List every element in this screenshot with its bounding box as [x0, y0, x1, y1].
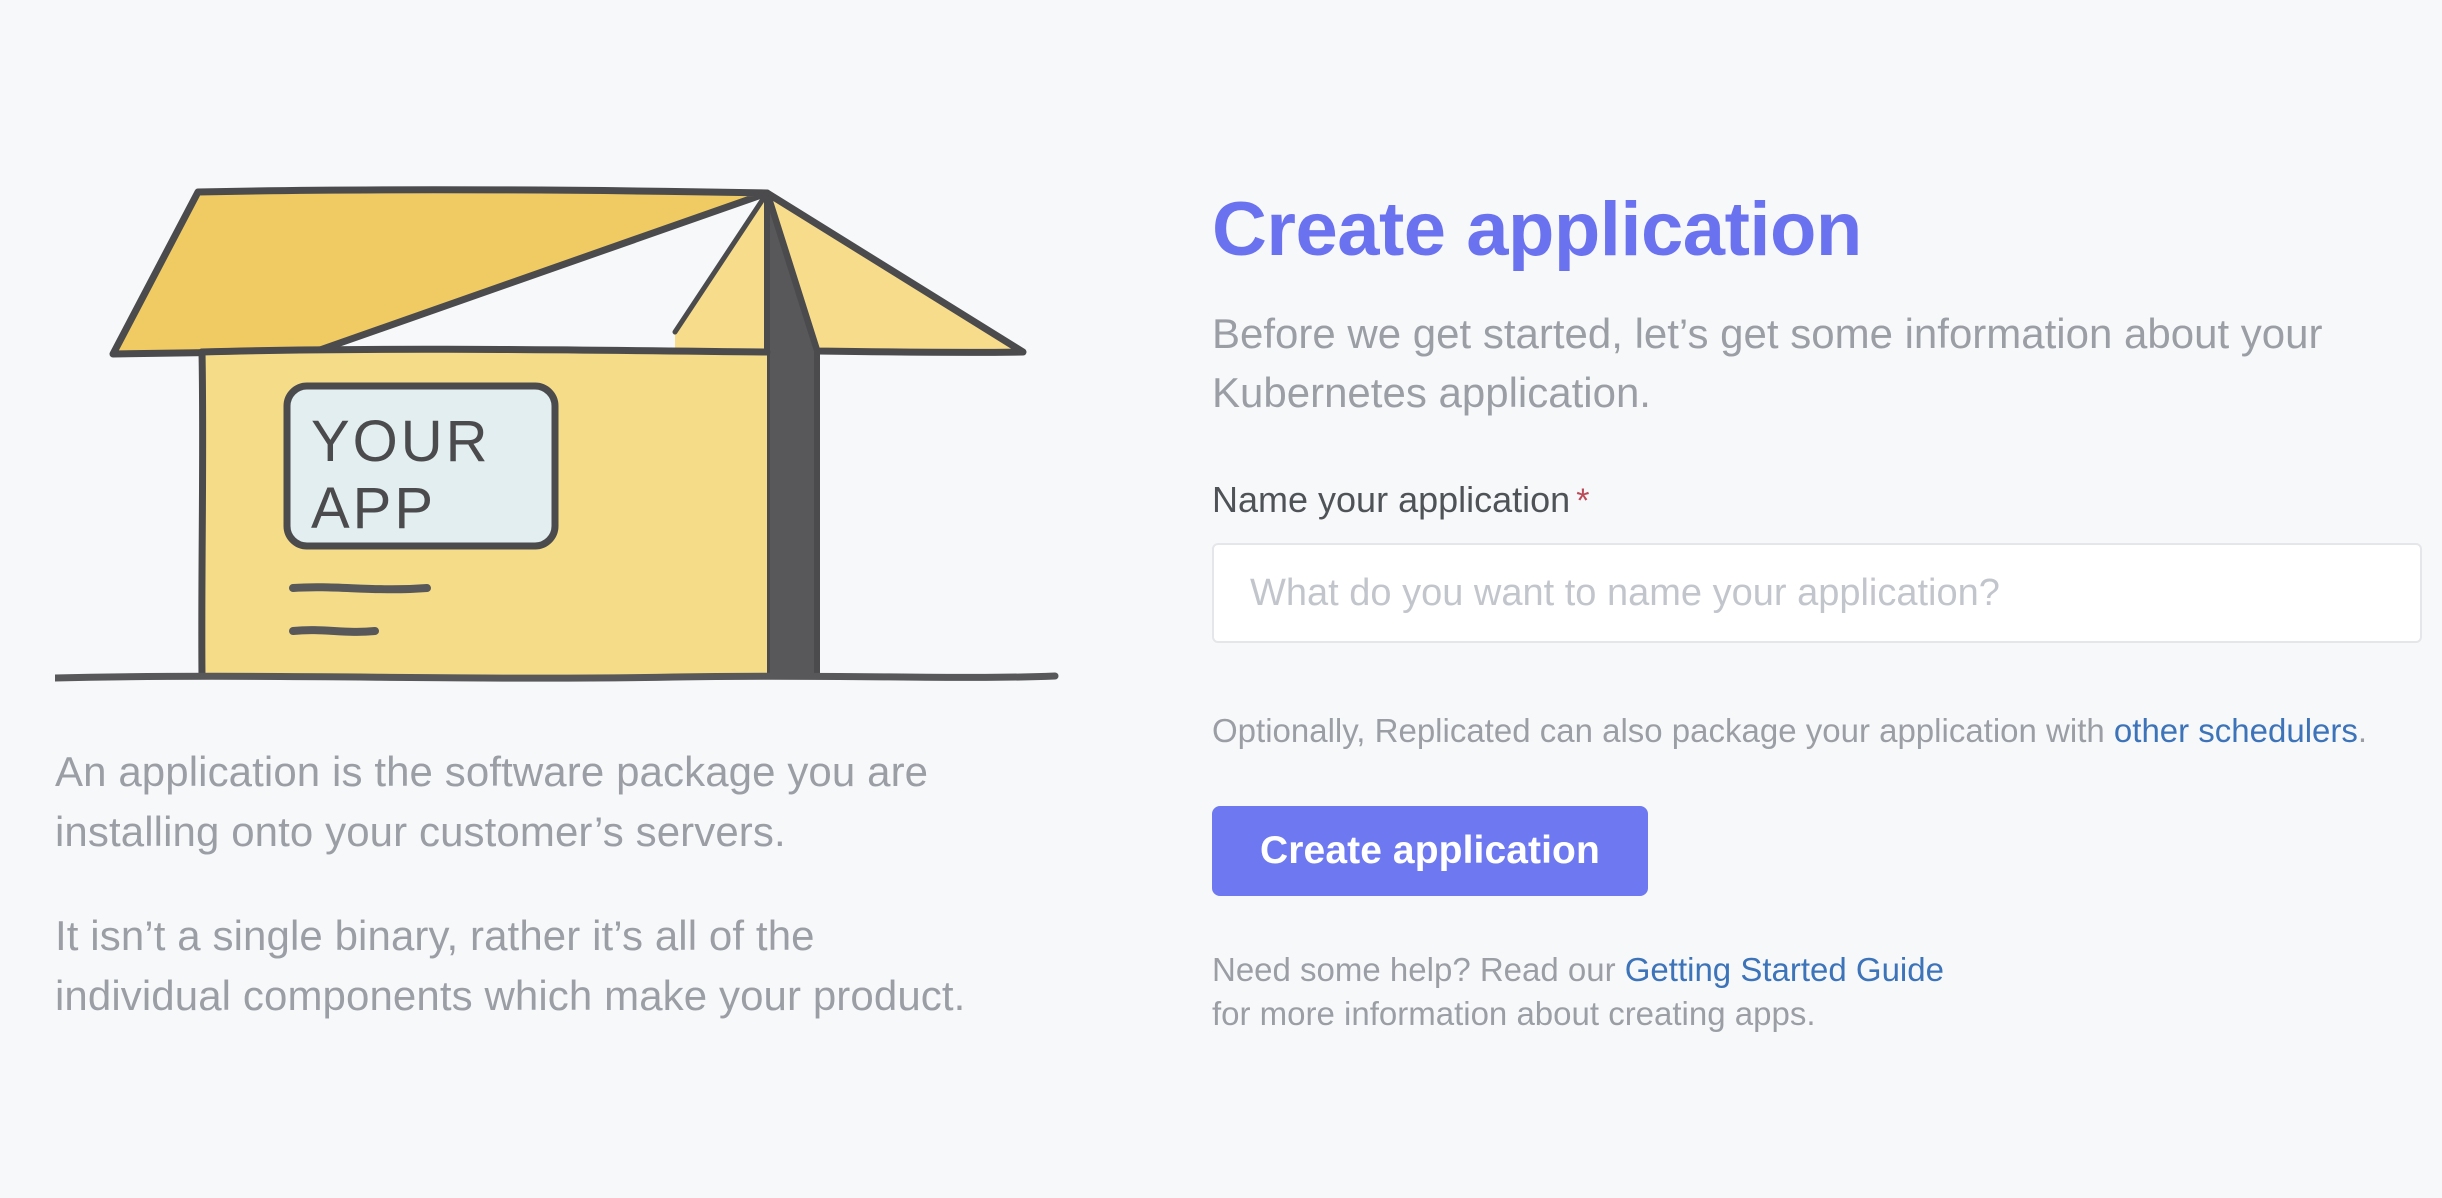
required-asterisk: * [1576, 482, 1589, 520]
other-schedulers-link[interactable]: other schedulers [2114, 712, 2358, 749]
other-schedulers-note-prefix: Optionally, Replicated can also package … [1212, 712, 2114, 749]
page-title: Create application [1212, 190, 2422, 270]
getting-started-guide-link[interactable]: Getting Started Guide [1625, 951, 1944, 988]
create-application-page: YOUR APP An application is the software … [0, 0, 2442, 1198]
help-text-line1: Need some help? Read our Getting Started… [1212, 948, 2422, 993]
form-subtitle: Before we get started, let’s get some in… [1212, 304, 2392, 423]
other-schedulers-note: Optionally, Replicated can also package … [1212, 709, 2422, 754]
help-text-line2: for more information about creating apps… [1212, 992, 2422, 1037]
info-column: YOUR APP An application is the software … [0, 0, 1110, 1198]
cardboard-box-illustration: YOUR APP [55, 176, 1075, 716]
application-name-label-text: Name your application [1212, 479, 1570, 520]
other-schedulers-note-suffix: . [2358, 712, 2367, 749]
help-text-prefix: Need some help? Read our [1212, 951, 1625, 988]
box-label-line1: YOUR [311, 409, 491, 474]
create-application-button[interactable]: Create application [1212, 806, 1648, 896]
create-application-form: Create application Before we get started… [1212, 190, 2422, 1037]
application-name-input[interactable] [1212, 543, 2422, 643]
application-name-label: Name your application* [1212, 479, 2422, 521]
info-text-block: An application is the software package y… [55, 742, 995, 1026]
info-paragraph-2: It isn’t a single binary, rather it’s al… [55, 906, 995, 1026]
box-label-line2: APP [311, 476, 436, 541]
info-paragraph-1: An application is the software package y… [55, 742, 995, 862]
form-column: Create application Before we get started… [1110, 0, 2442, 1198]
help-text: Need some help? Read our Getting Started… [1212, 948, 2422, 1037]
